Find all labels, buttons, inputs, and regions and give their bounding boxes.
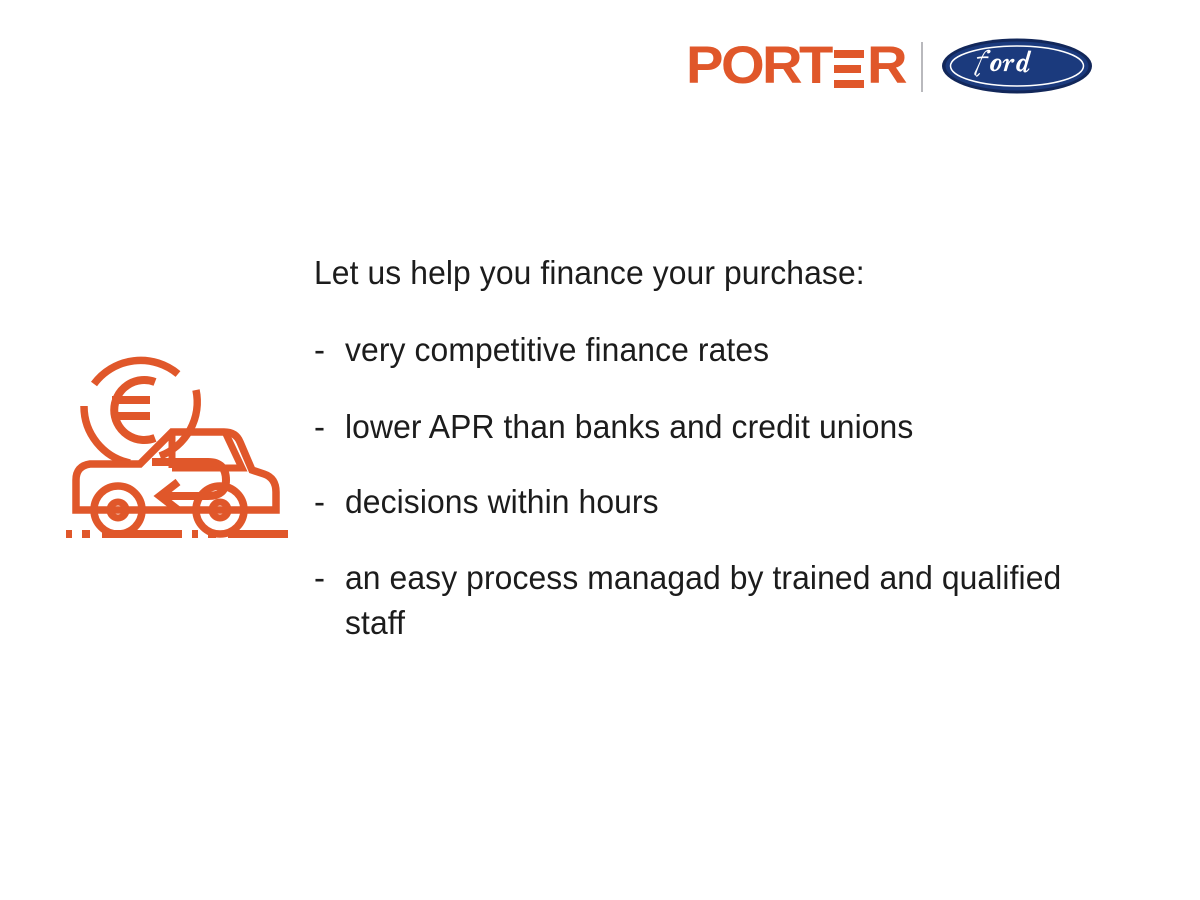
porter-letter-o: O <box>721 43 764 89</box>
bullet-dash: - <box>314 327 345 372</box>
porter-logo: P O R T R <box>686 43 905 89</box>
porter-letter-t: T <box>799 43 833 89</box>
list-item: - an easy process managad by trained and… <box>314 555 1104 645</box>
list-item: - very competitive finance rates <box>314 327 1104 372</box>
benefit-text: very competitive finance rates <box>345 327 1077 372</box>
benefit-list: - very competitive finance rates - lower… <box>314 327 1104 645</box>
benefit-text: an easy process managad by trained and q… <box>345 555 1077 645</box>
finance-benefits-block: Let us help you finance your purchase: -… <box>314 253 1104 645</box>
brand-divider <box>921 42 923 92</box>
benefit-text: lower APR than banks and credit unions <box>345 404 1077 449</box>
bullet-dash: - <box>314 404 345 449</box>
list-item: - decisions within hours <box>314 479 1104 524</box>
porter-letter-r2: R <box>867 43 907 89</box>
porter-letter-r: R <box>762 43 802 89</box>
ford-logo-icon <box>941 37 1093 95</box>
bullet-dash: - <box>314 555 345 600</box>
porter-letter-p: P <box>686 43 723 89</box>
intro-heading: Let us help you finance your purchase: <box>314 253 1076 293</box>
brand-lockup: P O R T R <box>686 30 1126 102</box>
list-item: - lower APR than banks and credit unions <box>314 404 1104 449</box>
benefit-text: decisions within hours <box>345 479 1077 524</box>
bullet-dash: - <box>314 479 345 524</box>
porter-letter-e-stylised-icon <box>834 50 864 88</box>
car-finance-euro-icon <box>56 328 296 568</box>
